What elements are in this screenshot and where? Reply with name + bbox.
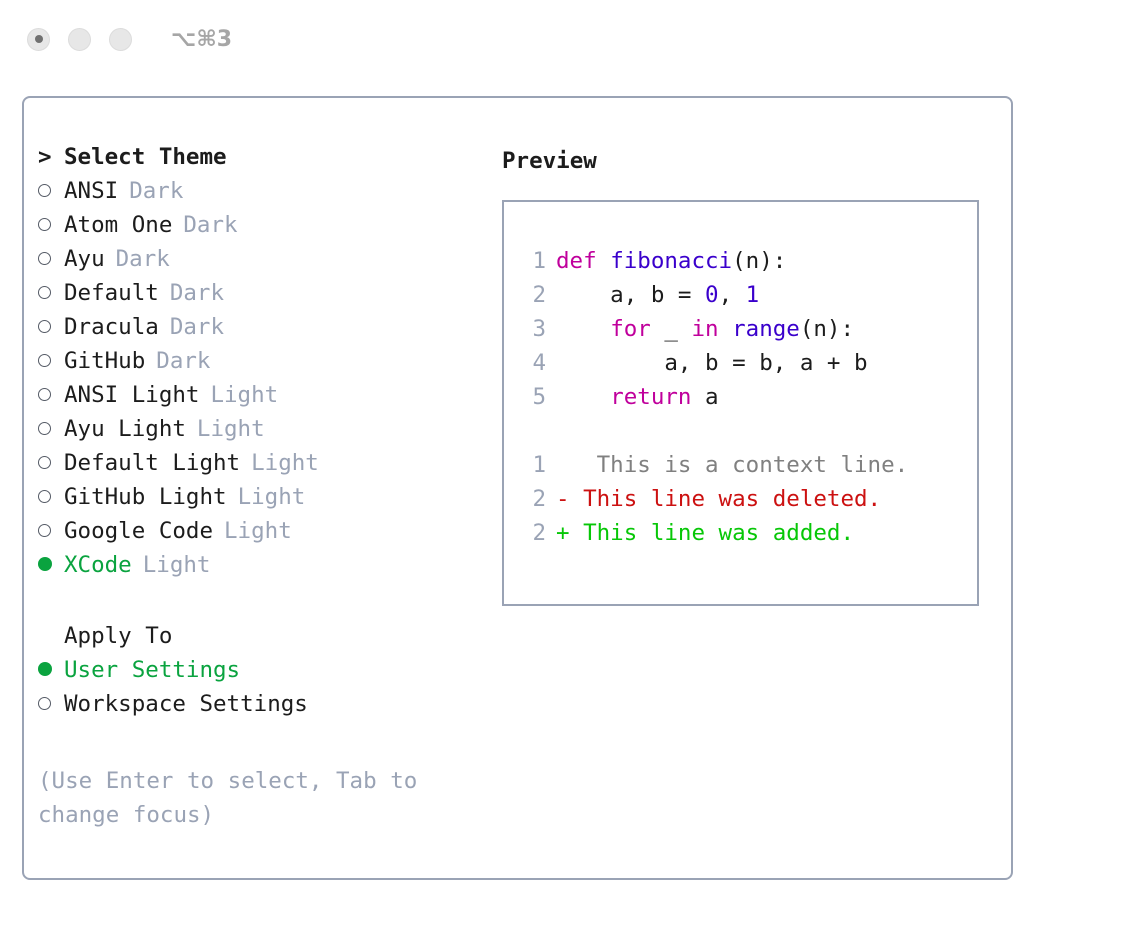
- theme-item-atom-one-badge: Dark: [183, 212, 237, 238]
- theme-item-google-code-badge: Light: [224, 518, 292, 544]
- radio-unselected-icon: [38, 320, 51, 333]
- code-token-kw: in: [691, 316, 718, 342]
- theme-item-xcode-badge: Light: [143, 552, 211, 578]
- apply-to-item-workspace-settings[interactable]: Workspace Settings: [38, 691, 468, 725]
- radio-unselected-icon: [38, 697, 51, 710]
- theme-item-ansi-label: ANSI: [64, 178, 118, 204]
- code-token-plain: _: [651, 316, 692, 342]
- code-line-number: 5: [520, 384, 546, 410]
- code-line: 4 a, b = b, a + b: [520, 350, 977, 384]
- traffic-light-second[interactable]: [68, 28, 91, 51]
- radio-marker-unselected: [38, 212, 64, 238]
- keyboard-hint: (Use Enter to select, Tab to change focu…: [38, 764, 458, 832]
- theme-item-ayu-light[interactable]: Ayu LightLight: [38, 416, 468, 450]
- select-theme-heading-label: Select Theme: [64, 144, 227, 170]
- radio-marker-selected: [38, 552, 64, 578]
- theme-item-dracula-label: Dracula: [64, 314, 159, 340]
- radio-unselected-icon: [38, 286, 51, 299]
- code-token-fn: fibonacci: [610, 248, 732, 274]
- code-line-number: 1: [520, 248, 546, 274]
- theme-selection-column: >Select Theme ANSIDarkAtom OneDarkAyuDar…: [38, 144, 468, 725]
- theme-item-dracula[interactable]: DraculaDark: [38, 314, 468, 348]
- theme-item-atom-one[interactable]: Atom OneDark: [38, 212, 468, 246]
- theme-item-github[interactable]: GitHubDark: [38, 348, 468, 382]
- theme-item-default-label: Default: [64, 280, 159, 306]
- radio-marker-selected: [38, 657, 64, 683]
- radio-marker-unselected: [38, 246, 64, 272]
- preview-heading: Preview: [502, 144, 992, 178]
- apply-to-item-user-settings[interactable]: User Settings: [38, 657, 468, 691]
- radio-unselected-icon: [38, 354, 51, 367]
- diff-sign: +: [556, 520, 570, 546]
- code-line-number: 2: [520, 282, 546, 308]
- radio-unselected-icon: [38, 524, 51, 537]
- diff-line-number: 1: [520, 452, 546, 478]
- theme-item-xcode-label: XCode: [64, 552, 132, 578]
- code-line: 5 return a: [520, 384, 977, 418]
- diff-line-number: 2: [520, 520, 546, 546]
- radio-marker-unselected: [38, 314, 64, 340]
- traffic-light-active-dot: [35, 35, 43, 43]
- theme-item-default-light-badge: Light: [251, 450, 319, 476]
- main-panel: >Select Theme ANSIDarkAtom OneDarkAyuDar…: [22, 96, 1013, 880]
- code-line: 3 for _ in range(n):: [520, 316, 977, 350]
- theme-item-ansi-light-label: ANSI Light: [64, 382, 199, 408]
- keyboard-shortcut-label: ⌥⌘3: [171, 27, 232, 52]
- radio-selected-icon: [38, 557, 52, 571]
- code-token-plain: ,: [719, 282, 746, 308]
- radio-unselected-icon: [38, 218, 51, 231]
- diff-line: 2- This line was deleted.: [520, 486, 977, 520]
- code-token-plain: a, b =: [556, 282, 705, 308]
- theme-item-ayu-badge: Dark: [116, 246, 170, 272]
- radio-unselected-icon: [38, 252, 51, 265]
- code-token-plain: [719, 316, 733, 342]
- theme-item-dracula-badge: Dark: [170, 314, 224, 340]
- radio-marker-unselected: [38, 382, 64, 408]
- radio-marker-unselected: [38, 484, 64, 510]
- preview-column: Preview 1def fibonacci(n):2 a, b = 0, 13…: [502, 144, 992, 606]
- radio-marker-unselected: [38, 280, 64, 306]
- apply-to-item-workspace-settings-label: Workspace Settings: [64, 691, 308, 717]
- code-line: 2 a, b = 0, 1: [520, 282, 977, 316]
- theme-list: ANSIDarkAtom OneDarkAyuDarkDefaultDarkDr…: [38, 178, 468, 586]
- apply-to-list: User SettingsWorkspace Settings: [38, 657, 468, 725]
- code-token-plain: (n):: [732, 248, 786, 274]
- diff-sign: -: [556, 486, 570, 512]
- theme-item-ayu-label: Ayu: [64, 246, 105, 272]
- radio-unselected-icon: [38, 184, 51, 197]
- code-token-kw: def: [556, 248, 610, 274]
- diff-line: 2+ This line was added.: [520, 520, 977, 554]
- apply-to-item-user-settings-label: User Settings: [64, 657, 240, 683]
- radio-marker-unselected: [38, 518, 64, 544]
- code-line: 1def fibonacci(n):: [520, 248, 977, 282]
- diff-sample: 1 This is a context line.2- This line wa…: [520, 452, 977, 554]
- radio-marker-unselected: [38, 416, 64, 442]
- radio-marker-unselected: [38, 450, 64, 476]
- theme-item-default-badge: Dark: [170, 280, 224, 306]
- radio-marker-unselected: [38, 691, 64, 717]
- code-token-plain: (n):: [800, 316, 854, 342]
- radio-unselected-icon: [38, 388, 51, 401]
- theme-item-default-light-label: Default Light: [64, 450, 240, 476]
- code-line-number: 4: [520, 350, 546, 376]
- diff-text: This line was deleted.: [570, 486, 882, 512]
- theme-item-ansi-badge: Dark: [129, 178, 183, 204]
- theme-item-ayu[interactable]: AyuDark: [38, 246, 468, 280]
- radio-unselected-icon: [38, 490, 51, 503]
- heading-caret: >: [38, 144, 64, 170]
- window-titlebar: ⌥⌘3: [0, 0, 1140, 78]
- theme-item-google-code[interactable]: Google CodeLight: [38, 518, 468, 552]
- diff-line: 1 This is a context line.: [520, 452, 977, 486]
- theme-item-default-light[interactable]: Default LightLight: [38, 450, 468, 484]
- radio-marker-unselected: [38, 178, 64, 204]
- apply-to-heading: Apply To: [38, 623, 468, 657]
- diff-sign: [556, 452, 570, 478]
- code-token-kw: return: [610, 384, 691, 410]
- code-token-plain: [556, 384, 610, 410]
- theme-item-ayu-light-badge: Light: [197, 416, 265, 442]
- theme-item-ansi-light-badge: Light: [210, 382, 278, 408]
- code-token-num: 1: [746, 282, 760, 308]
- diff-line-number: 2: [520, 486, 546, 512]
- traffic-light-buttons: [27, 28, 132, 51]
- code-line-number: 3: [520, 316, 546, 342]
- keyboard-hint-line-1: (Use Enter to select, Tab to: [38, 764, 458, 798]
- code-sample: 1def fibonacci(n):2 a, b = 0, 13 for _ i…: [520, 248, 977, 418]
- code-token-plain: a: [691, 384, 718, 410]
- radio-unselected-icon: [38, 422, 51, 435]
- preview-box: 1def fibonacci(n):2 a, b = 0, 13 for _ i…: [502, 200, 979, 606]
- theme-item-atom-one-label: Atom One: [64, 212, 172, 238]
- theme-item-github-light-label: GitHub Light: [64, 484, 227, 510]
- keyboard-hint-line-2: change focus): [38, 798, 458, 832]
- theme-item-github-badge: Dark: [156, 348, 210, 374]
- section-spacer: [38, 586, 468, 623]
- code-token-fn: range: [732, 316, 800, 342]
- code-token-plain: a, b = b, a + b: [556, 350, 868, 376]
- traffic-light-active[interactable]: [27, 28, 50, 51]
- theme-item-xcode[interactable]: XCodeLight: [38, 552, 468, 586]
- diff-text: This is a context line.: [570, 452, 909, 478]
- theme-item-github-label: GitHub: [64, 348, 145, 374]
- theme-item-github-light[interactable]: GitHub LightLight: [38, 484, 468, 518]
- traffic-light-third[interactable]: [109, 28, 132, 51]
- theme-item-ansi-light[interactable]: ANSI LightLight: [38, 382, 468, 416]
- theme-item-github-light-badge: Light: [238, 484, 306, 510]
- theme-item-default[interactable]: DefaultDark: [38, 280, 468, 314]
- code-token-kw: for: [610, 316, 651, 342]
- diff-text: This line was added.: [570, 520, 854, 546]
- theme-item-google-code-label: Google Code: [64, 518, 213, 544]
- code-token-plain: [556, 316, 610, 342]
- theme-item-ansi[interactable]: ANSIDark: [38, 178, 468, 212]
- apply-to-heading-label: Apply To: [64, 623, 172, 649]
- select-theme-heading: >Select Theme: [38, 144, 468, 178]
- radio-marker-unselected: [38, 348, 64, 374]
- radio-selected-icon: [38, 662, 52, 676]
- theme-picker-window: ⌥⌘3 >Select Theme ANSIDarkAtom OneDarkAy…: [0, 0, 1140, 934]
- radio-unselected-icon: [38, 456, 51, 469]
- code-token-num: 0: [705, 282, 719, 308]
- code-diff-spacer: [520, 418, 977, 452]
- theme-item-ayu-light-label: Ayu Light: [64, 416, 186, 442]
